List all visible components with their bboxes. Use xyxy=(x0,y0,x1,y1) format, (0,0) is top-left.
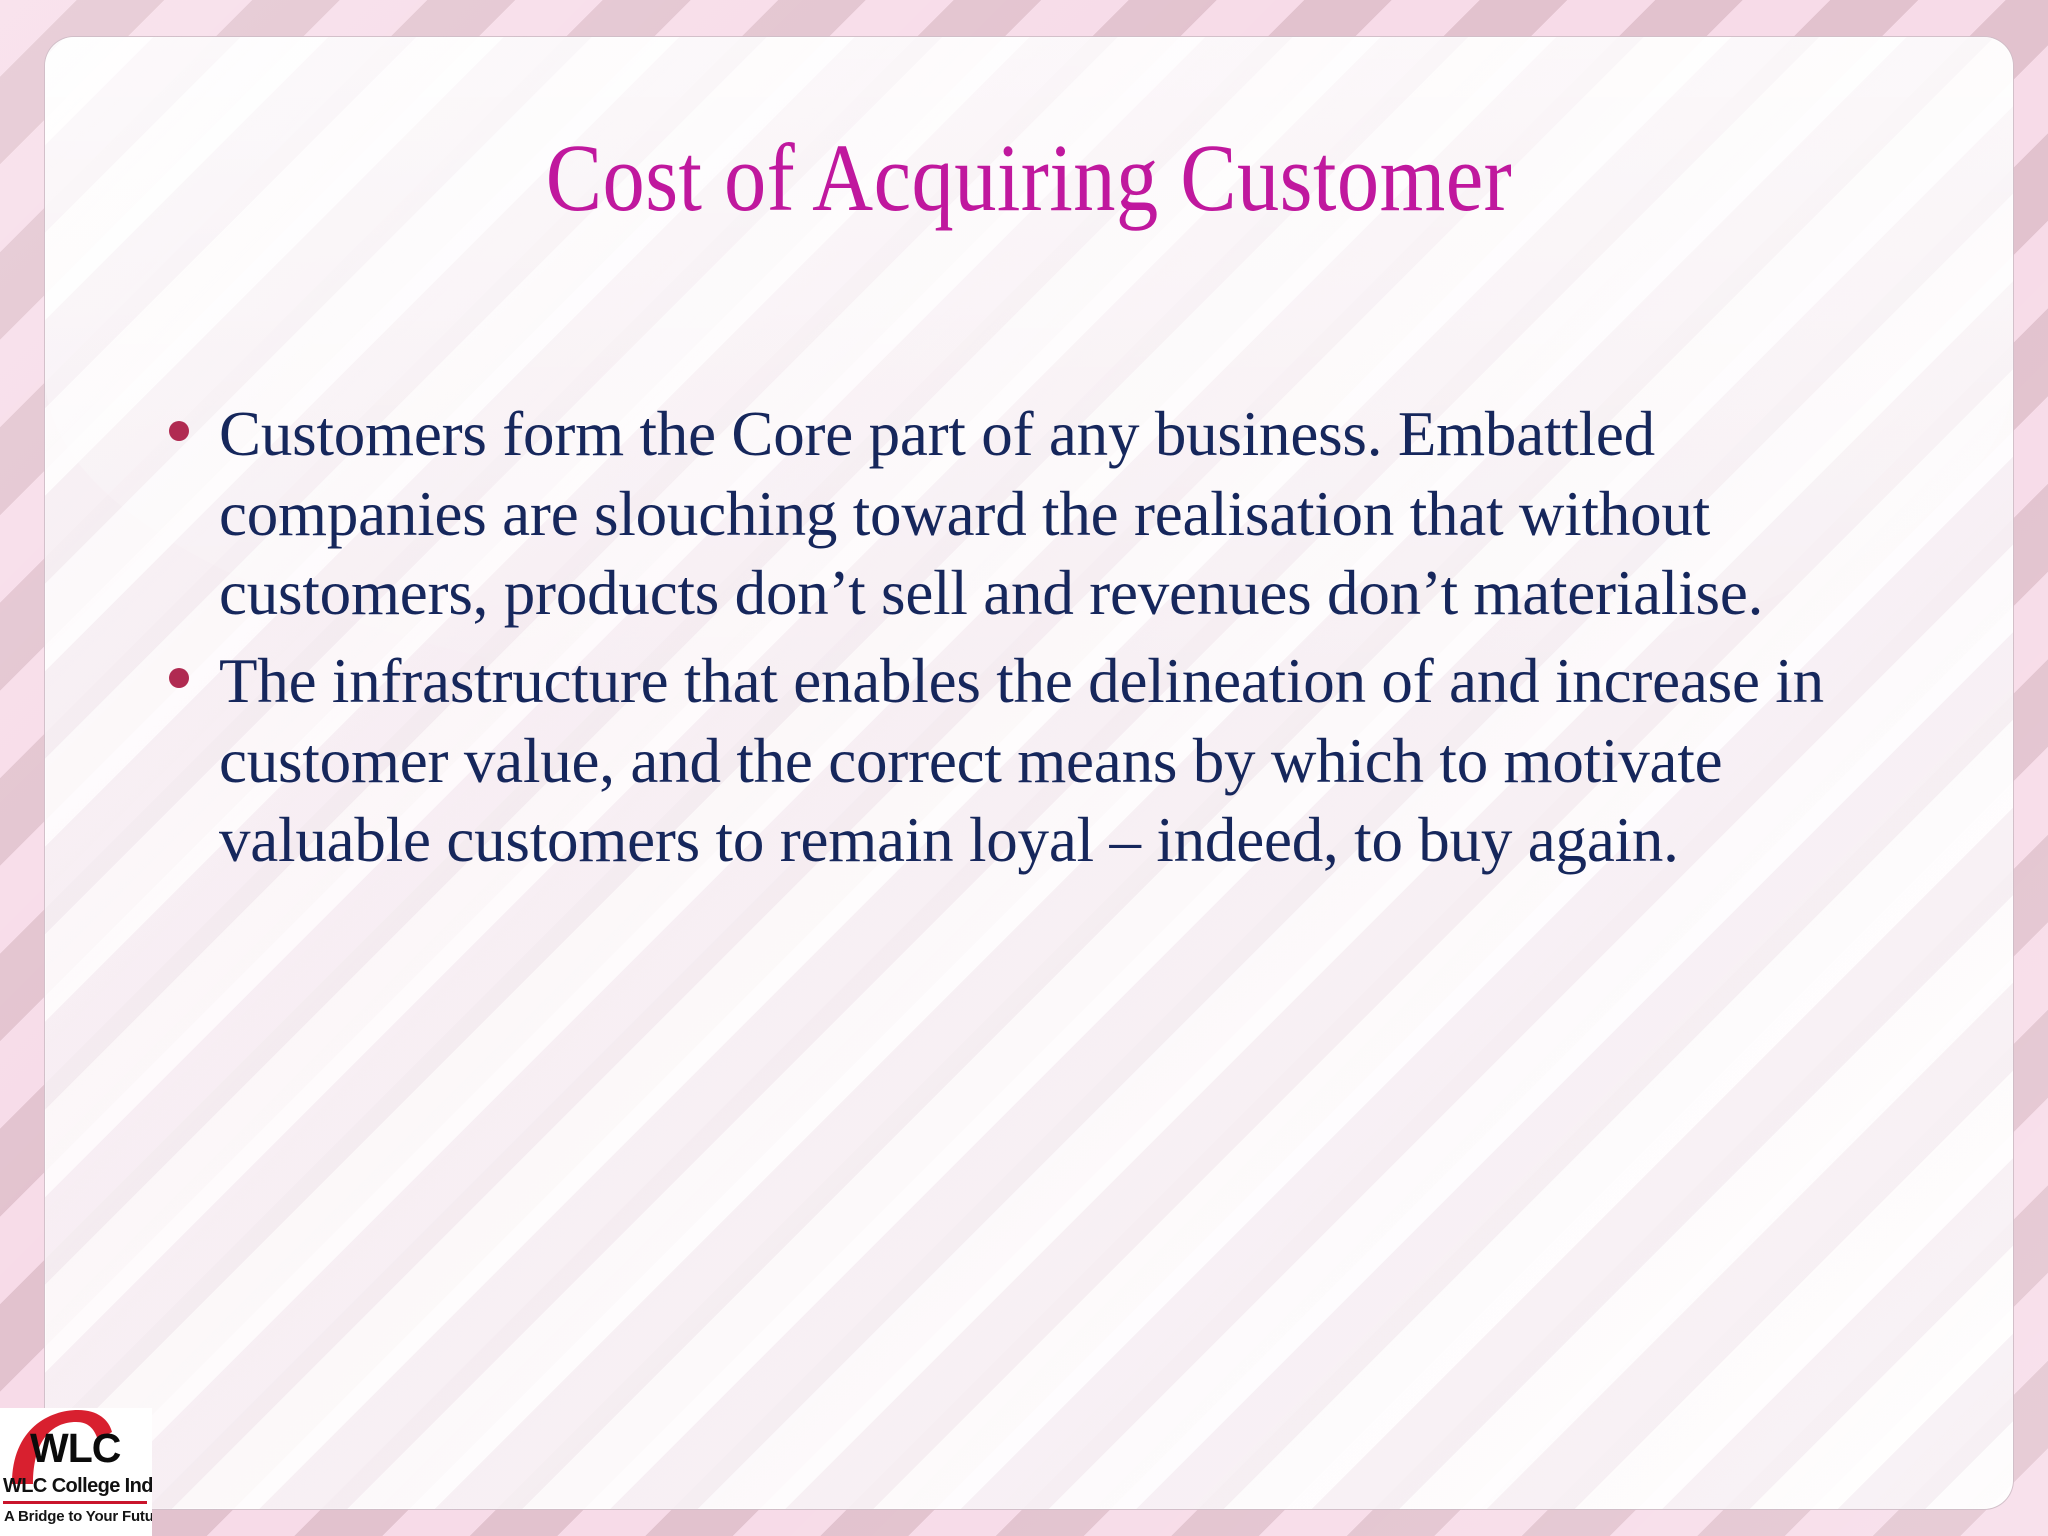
logo-tagline: A Bridge to Your Future xyxy=(4,1509,150,1524)
logo-divider xyxy=(3,1501,147,1504)
panel-content: Cost of Acquiring Customer Customers for… xyxy=(45,37,2013,1509)
list-item: The infrastructure that enables the deli… xyxy=(169,642,1917,881)
slide-title: Cost of Acquiring Customer xyxy=(163,129,1895,227)
bullet-text: The infrastructure that enables the deli… xyxy=(219,642,1917,881)
bullet-dot-icon xyxy=(169,421,189,441)
logo-institution-name: WLC College India xyxy=(3,1476,149,1496)
bullet-text: Customers form the Core part of any busi… xyxy=(219,395,1917,634)
content-panel: Cost of Acquiring Customer Customers for… xyxy=(44,36,2014,1510)
list-item: Customers form the Core part of any busi… xyxy=(169,395,1917,634)
logo-wordmark: WLC xyxy=(30,1428,120,1469)
slide-canvas: Cost of Acquiring Customer Customers for… xyxy=(0,0,2048,1536)
bullet-dot-icon xyxy=(169,668,189,688)
wlc-logo: WLC WLC College India A Bridge to Your F… xyxy=(0,1408,152,1536)
bullet-list: Customers form the Core part of any busi… xyxy=(169,395,1917,889)
